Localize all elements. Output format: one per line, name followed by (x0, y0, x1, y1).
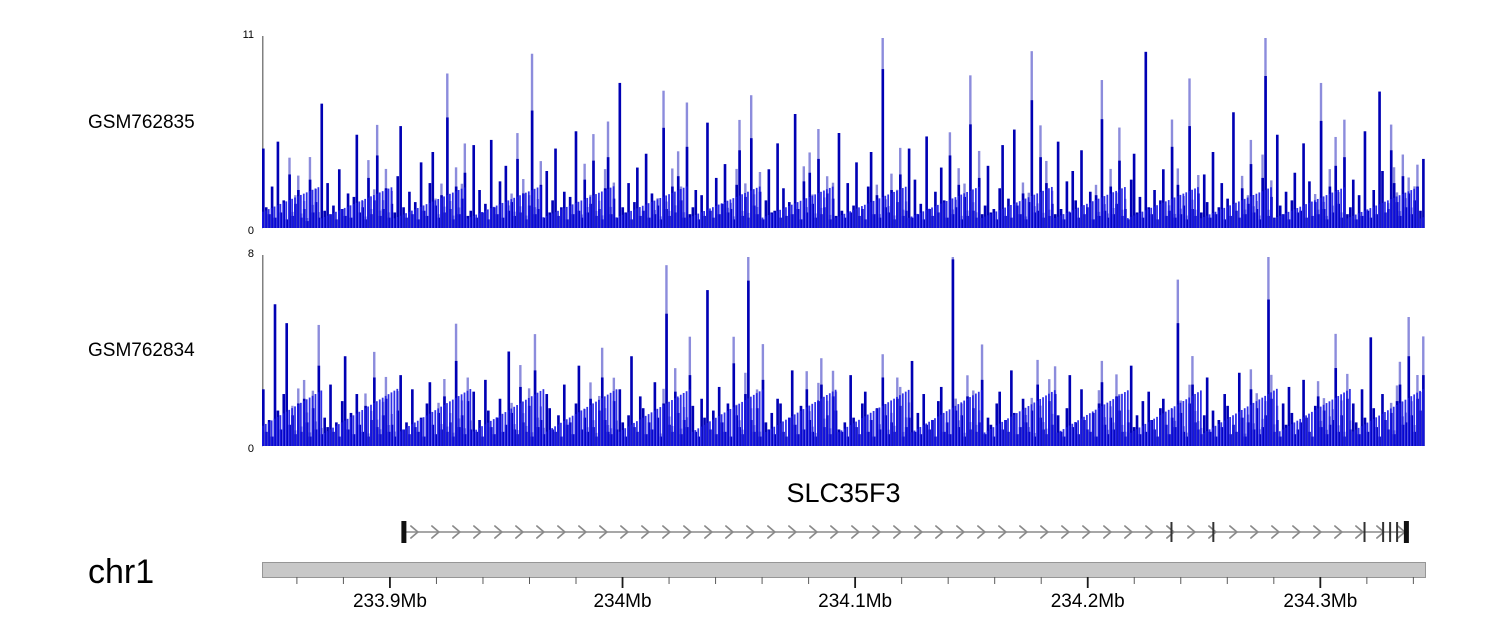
y-axis-max-label-track-0: 11 (214, 29, 254, 41)
genome-axis-ruler[interactable]: 233.9Mb234Mb234.1Mb234.2Mb234.3Mb (262, 560, 1432, 640)
track-label-gsm762835: GSM762835 (88, 112, 248, 134)
track-label-gsm762834: GSM762834 (88, 340, 248, 362)
coverage-track-gsm762834[interactable]: 8 0 (262, 255, 1425, 450)
ruler-ticks (262, 560, 1432, 594)
y-axis-min-label-track-0: 0 (214, 225, 254, 237)
gene-annotation-track[interactable]: SLC35F3 (262, 478, 1425, 560)
coverage-plot-gsm762835 (262, 36, 1425, 232)
ruler-tick-label: 234.1Mb (818, 591, 892, 613)
ruler-tick-label: 233.9Mb (353, 591, 427, 613)
y-axis-min-label-track-1: 0 (214, 443, 254, 455)
gene-name-label: SLC35F3 (262, 478, 1425, 509)
gene-model-slc35f3[interactable] (262, 508, 1425, 556)
coverage-plot-gsm762834 (262, 255, 1425, 450)
genome-browser: GSM762835 11 0 GSM762834 8 0 SLC35F3 chr… (0, 0, 1500, 640)
ruler-tick-label: 234.3Mb (1283, 591, 1357, 613)
coverage-track-gsm762835[interactable]: 11 0 (262, 36, 1425, 232)
chromosome-label: chr1 (88, 553, 154, 592)
ruler-tick-label: 234.2Mb (1051, 591, 1125, 613)
y-axis-max-label-track-1: 8 (214, 248, 254, 260)
ruler-tick-label: 234Mb (593, 591, 651, 613)
